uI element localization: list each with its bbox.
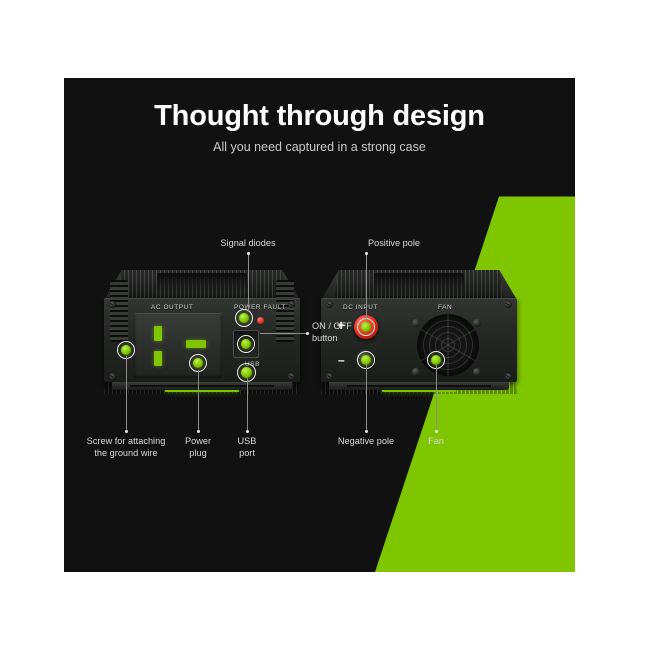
silkscreen-fan: FAN [438, 304, 452, 311]
screw-bottom-left [109, 373, 116, 380]
on-off-switch[interactable] [233, 330, 259, 358]
fan-screw-bottom-right [473, 368, 481, 376]
lid-recess [157, 273, 247, 292]
fan-screw-top-left [412, 319, 420, 327]
socket-pin-live [154, 326, 162, 341]
screenshot-root: Thought through design All you need capt… [0, 0, 650, 650]
socket-pin-earth [186, 340, 206, 348]
callout-on-off-button: ON / OFF button [312, 321, 352, 344]
fan-screw-top-right [473, 319, 481, 327]
device-base-foot [329, 382, 509, 390]
screw-top-right [288, 301, 295, 308]
leader-ground-screw [126, 356, 127, 430]
callout-signal-diodes: Signal diodes [220, 238, 275, 250]
fault-led-red [257, 317, 264, 324]
screw-top-left [109, 301, 116, 308]
leader-dot [246, 430, 249, 433]
leader-fan [436, 364, 437, 430]
silkscreen-dc-input: DC INPUT [343, 304, 378, 311]
silkscreen-ac-output: AC OUTPUT [151, 304, 193, 311]
cooling-fan-grille [417, 314, 479, 376]
screw-top-left [326, 301, 333, 308]
leader-dot [197, 430, 200, 433]
screw-bottom-right [288, 373, 295, 380]
leader-dot [306, 332, 309, 335]
on-off-ring [237, 335, 255, 353]
callout-ground-screw: Screw for attaching the ground wire [87, 436, 166, 459]
callout-usb-port: USB port [238, 436, 257, 459]
device-base-foot [112, 382, 292, 390]
ac-socket[interactable] [134, 313, 222, 378]
fan-screw-bottom-left [412, 368, 420, 376]
lid-recess [374, 273, 464, 292]
inverter-front-view: AC OUTPUT POWER FAULT USB [104, 270, 300, 394]
page-subtitle: All you need captured in a strong case [64, 140, 575, 154]
leader-usb-port [247, 378, 248, 430]
product-feature-card: Thought through design All you need capt… [64, 78, 575, 572]
socket-pin-neutral [154, 351, 162, 366]
leader-dot [247, 252, 250, 255]
leader-signal-diodes [248, 254, 249, 312]
leader-dot [435, 430, 438, 433]
screw-bottom-left [326, 373, 333, 380]
screw-top-right [505, 301, 512, 308]
callout-positive-pole: Positive pole [368, 238, 420, 250]
polarity-minus-sign: – [338, 354, 345, 366]
page-title: Thought through design [64, 100, 575, 133]
leader-power-plug [198, 370, 199, 430]
power-led-ring [235, 309, 253, 327]
leader-dot [365, 430, 368, 433]
screw-bottom-right [505, 373, 512, 380]
callout-negative-pole: Negative pole [338, 436, 394, 448]
leader-on-off [260, 333, 308, 334]
leader-negative-pole [366, 364, 367, 430]
leader-dot [125, 430, 128, 433]
leader-dot [365, 252, 368, 255]
vent-grille-left [110, 280, 128, 342]
positive-terminal-ring [357, 318, 375, 336]
callout-power-plug: Power plug [185, 436, 211, 459]
callout-fan: Fan [428, 436, 444, 448]
leader-positive-pole [366, 254, 367, 320]
